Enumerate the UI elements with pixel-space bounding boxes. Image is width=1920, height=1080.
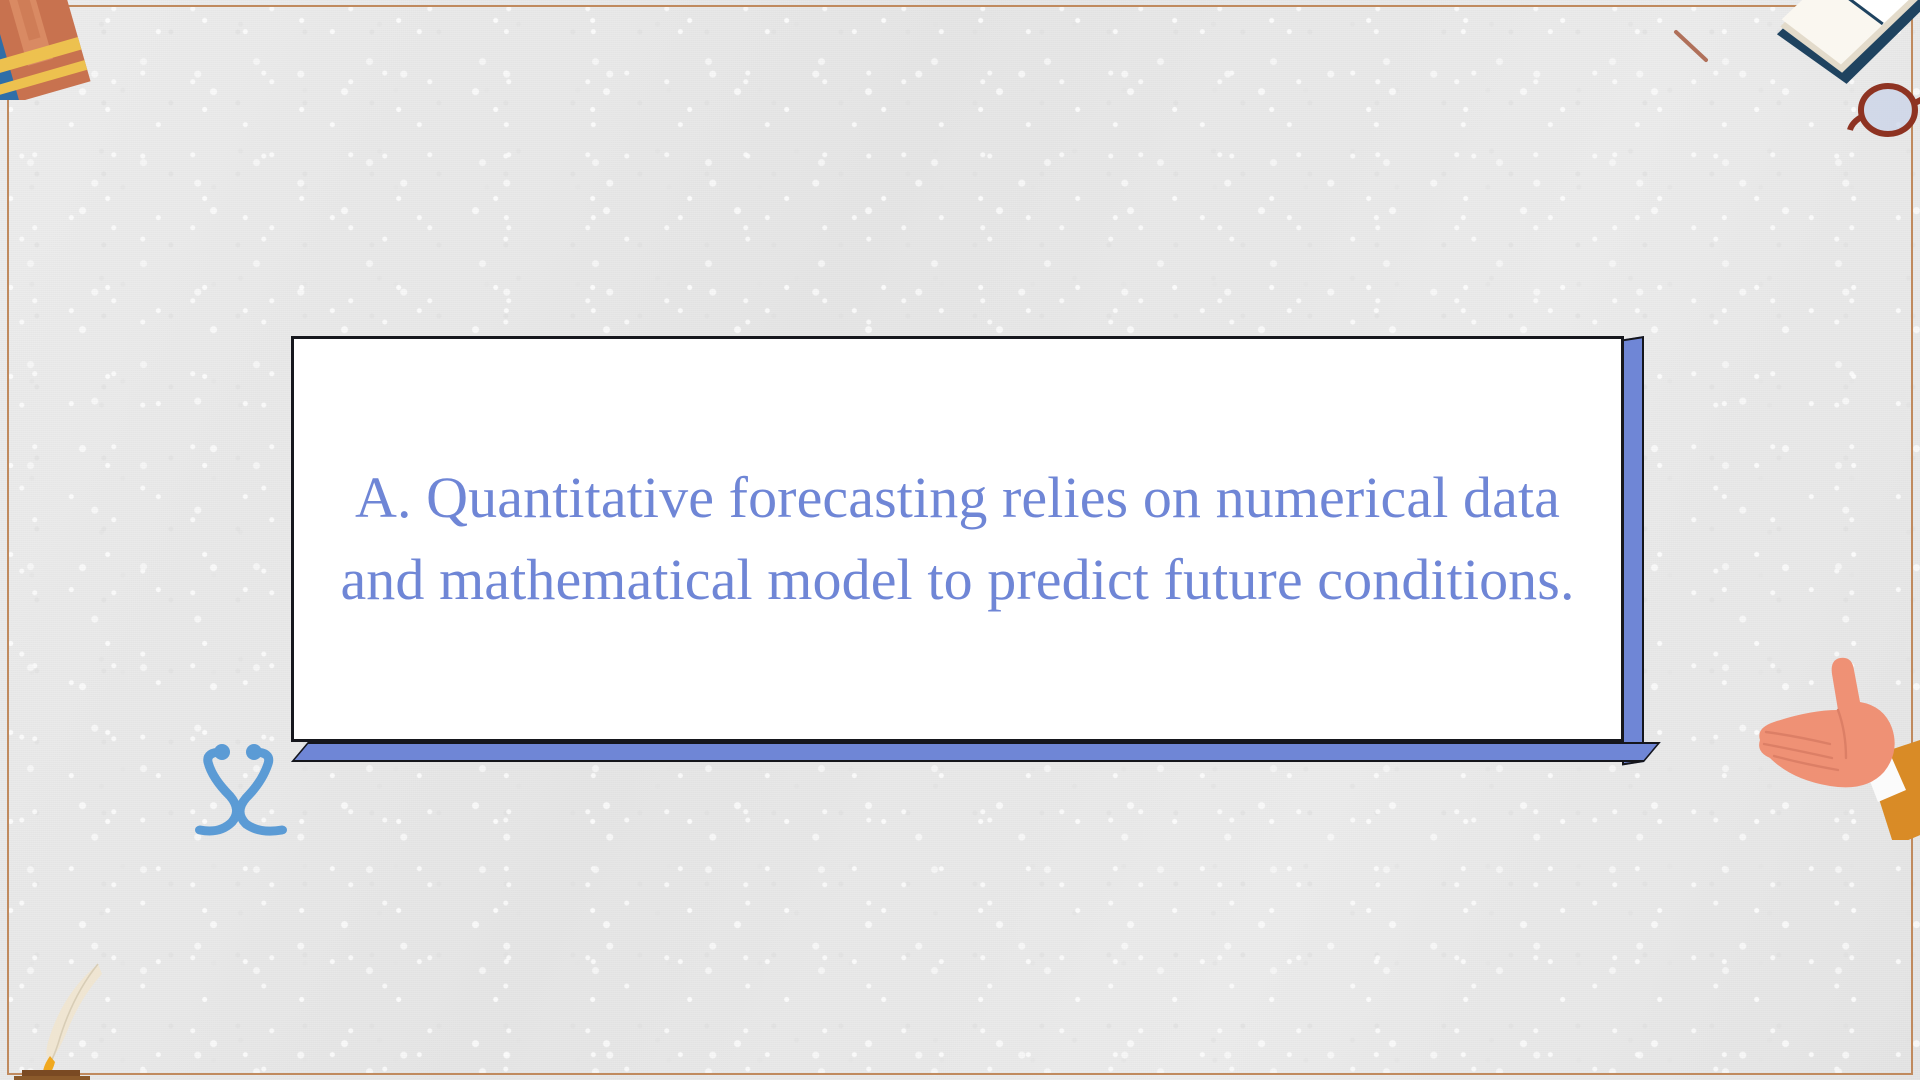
answer-box-front[interactable]: A. Quantitative forecasting relies on nu… — [291, 336, 1624, 742]
answer-text: A. Quantitative forecasting relies on nu… — [338, 457, 1577, 622]
answer-box[interactable]: A. Quantitative forecasting relies on nu… — [291, 336, 1644, 762]
squiggle-bracket-icon — [188, 738, 298, 856]
answer-box-extrude-right — [1622, 336, 1644, 765]
eyeglasses-icon — [1850, 70, 1920, 134]
hand-icon — [1734, 640, 1920, 840]
pencil-tick-icon — [1672, 28, 1718, 68]
slide-canvas: A. Quantitative forecasting relies on nu… — [0, 0, 1920, 1080]
quill-pen-icon — [10, 956, 150, 1080]
book-spine-icon — [0, 0, 106, 100]
answer-box-extrude-bottom — [291, 742, 1661, 762]
open-book-icon — [1746, 0, 1920, 140]
